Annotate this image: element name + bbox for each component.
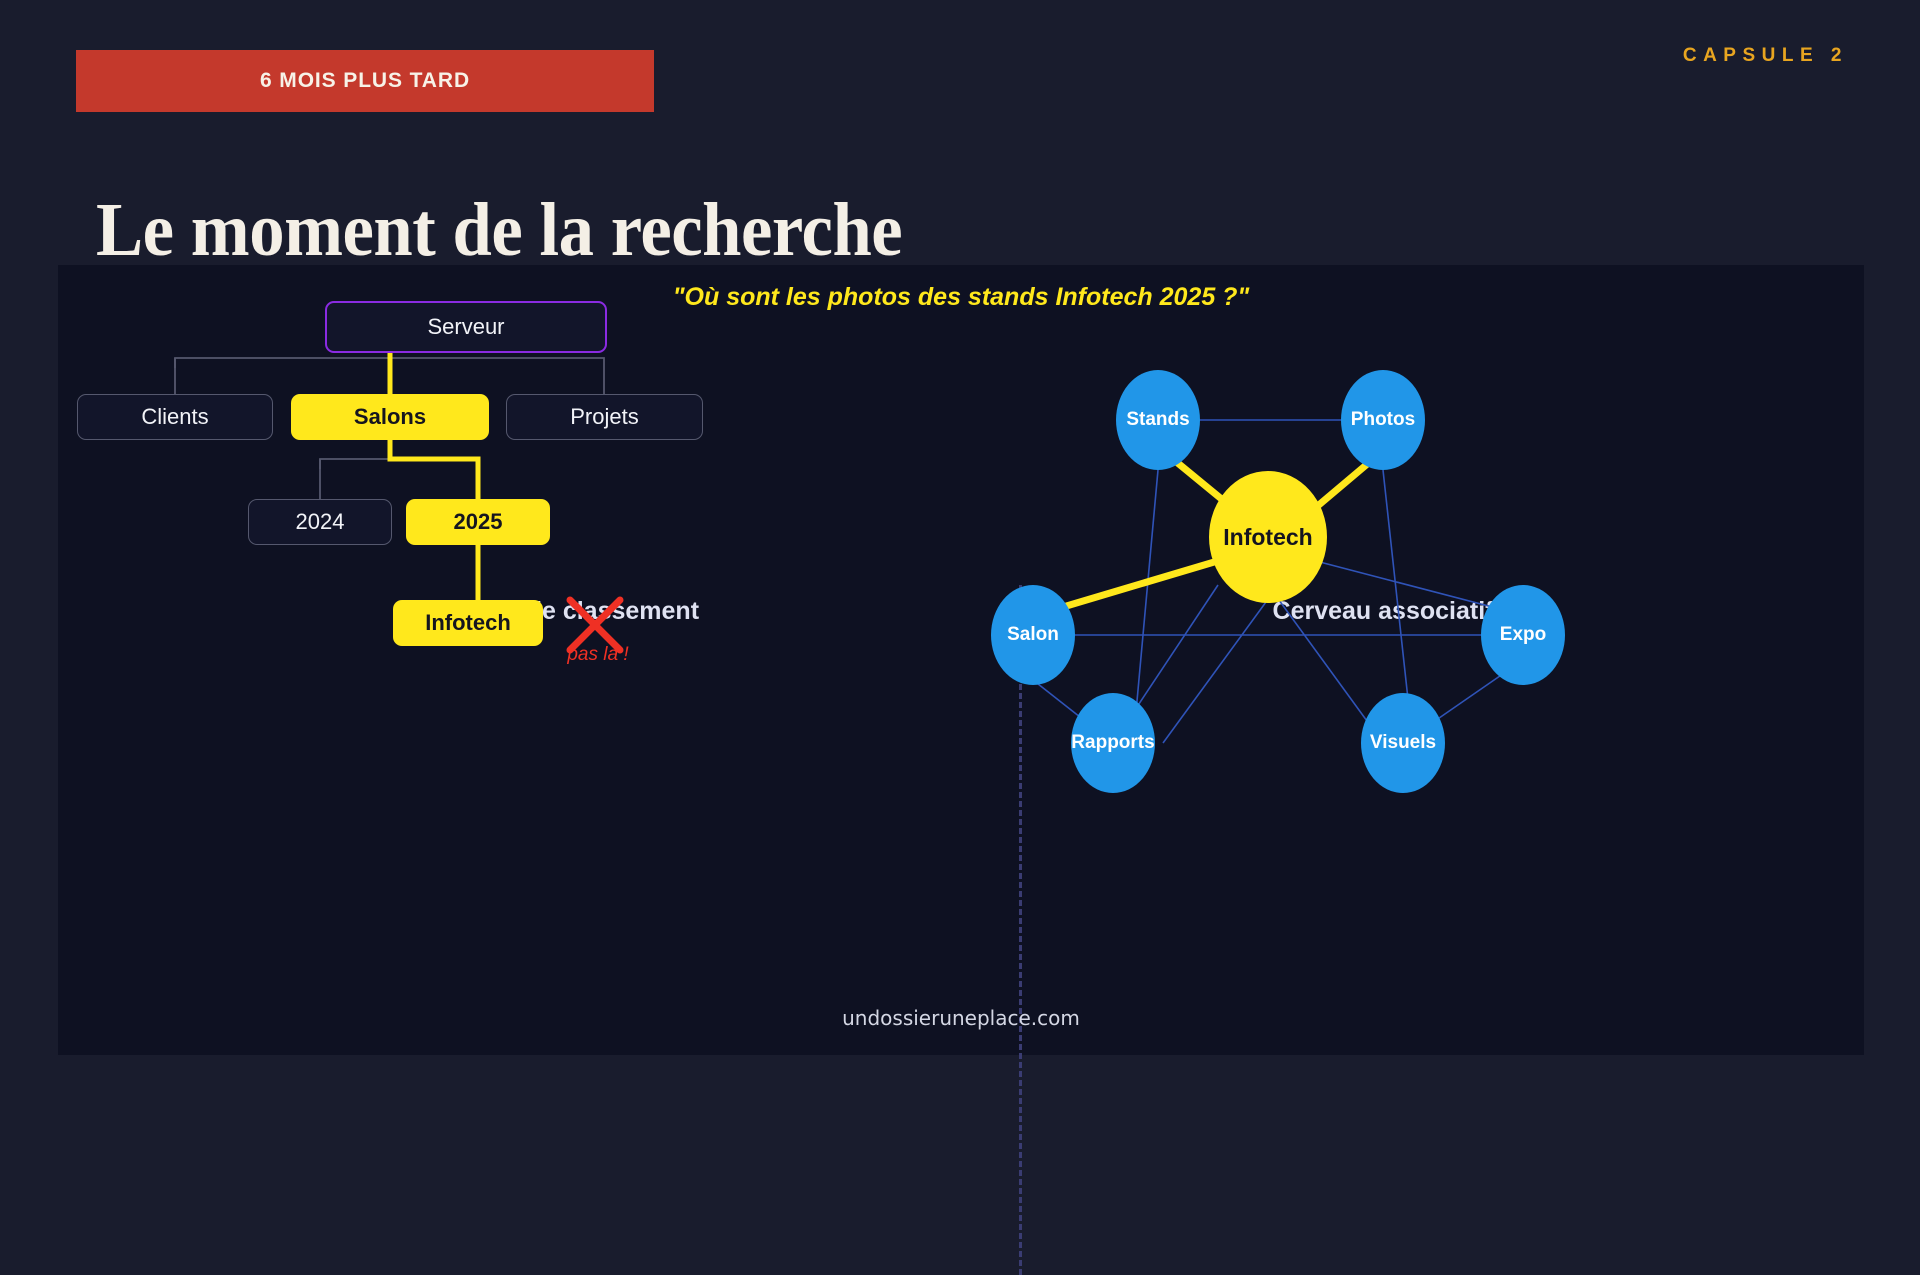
tree-node-2024[interactable]: 2024	[248, 499, 392, 545]
network-node-photos[interactable]: Photos	[1341, 370, 1425, 470]
tree-node-projets-label: Projets	[570, 404, 638, 430]
network-node-rapports-label: Rapports	[1071, 732, 1154, 754]
tree-node-serveur-label: Serveur	[427, 314, 504, 340]
tree-node-2024-label: 2024	[296, 509, 345, 535]
network-node-rapports[interactable]: Rapports	[1071, 693, 1155, 793]
tree-node-projets[interactable]: Projets	[506, 394, 703, 440]
tree-node-clients[interactable]: Clients	[77, 394, 273, 440]
tree-node-serveur[interactable]: Serveur	[325, 301, 607, 353]
tree-node-salons-label: Salons	[354, 404, 426, 430]
eyebrow-badge: 6 MOIS PLUS TARD	[76, 50, 654, 112]
network-node-stands-label: Stands	[1126, 409, 1189, 431]
network-node-expo[interactable]: Expo	[1481, 585, 1565, 685]
network-node-visuels-label: Visuels	[1370, 732, 1436, 754]
tree-connectors	[58, 265, 963, 1055]
network-node-expo-label: Expo	[1500, 624, 1546, 646]
network-node-salon[interactable]: Salon	[991, 585, 1075, 685]
capsule-label: CAPSULE 2	[1683, 45, 1848, 67]
tree-node-clients-label: Clients	[141, 404, 208, 430]
network-node-salon-label: Salon	[1007, 624, 1059, 646]
page-title: Le moment de la recherche	[96, 187, 902, 274]
tree-node-2025-label: 2025	[454, 509, 503, 535]
tree-node-infotech[interactable]: Infotech	[393, 600, 543, 646]
network-edges	[963, 265, 1864, 1055]
associative-network: Stands Photos Infotech Salon Expo Rappor…	[963, 265, 1864, 1055]
eyebrow-badge-label: 6 MOIS PLUS TARD	[260, 69, 470, 93]
network-node-infotech[interactable]: Infotech	[1209, 471, 1327, 603]
network-node-visuels[interactable]: Visuels	[1361, 693, 1445, 793]
missing-annotation-label: pas là !	[528, 644, 668, 666]
tree-node-infotech-label: Infotech	[425, 610, 511, 636]
tree-node-2025[interactable]: 2025	[406, 499, 550, 545]
network-node-infotech-label: Infotech	[1223, 524, 1312, 551]
tree-node-salons[interactable]: Salons	[291, 394, 489, 440]
network-node-stands[interactable]: Stands	[1116, 370, 1200, 470]
network-node-photos-label: Photos	[1351, 409, 1415, 431]
filing-plan-tree: Serveur Clients Salons Projets 2024 2025…	[58, 265, 963, 1055]
